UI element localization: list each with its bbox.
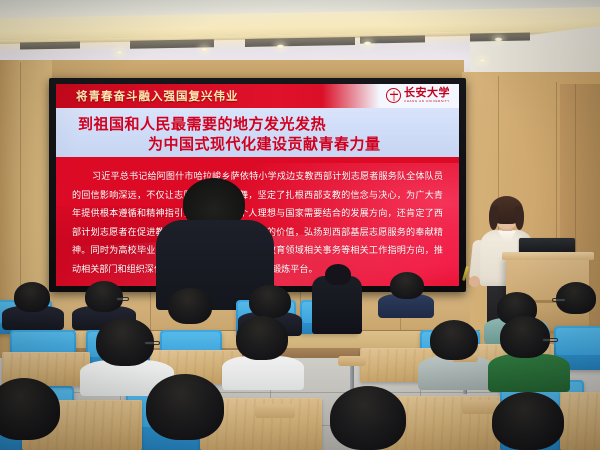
ceiling-downlight [276,44,285,49]
audience-shoulders [222,356,304,390]
ceiling-downlight [115,50,124,55]
speaker-hair-left [489,206,498,230]
ceiling-downlight [363,41,372,46]
speaker-glasses-icon [496,211,517,216]
slide-headline-band: 到祖国和人民最需要的地方发光发热 为中国式现代化建设贡献青春力量 [56,108,459,157]
audience-head [492,392,564,450]
university-name-cn: 长安大学 [404,87,450,98]
audience-head [146,374,224,440]
audience-glasses-icon [552,298,566,302]
seat-armrest [255,404,295,418]
audience-head [236,316,288,360]
ceiling-downlight [478,58,487,63]
audience-head [14,282,50,312]
audience-head [500,316,550,358]
ceiling-vent-1 [20,41,80,49]
seat-armrest [338,356,366,366]
audience-glasses-icon [116,297,129,301]
speaker-hand [469,276,480,287]
audience-head [168,288,212,324]
audience-head [330,386,406,450]
ceiling-downlight [494,37,503,42]
audience-head [325,264,351,285]
slide-headline-line-2: 为中国式现代化建设贡献青春力量 [148,133,381,154]
desk[interactable] [560,392,600,450]
ceiling-downlight [200,47,209,52]
podium-top [502,252,594,260]
audience-head [249,285,291,318]
audience-head [430,320,478,360]
audience-glasses-icon [542,338,558,342]
lecture-hall-photo: 将青春奋斗融入强国复兴伟业 长安大学 CHANG AN UNIVERSITY 到… [0,0,600,450]
slide-banner-title: 将青春奋斗融入强国复兴伟业 [76,88,239,104]
university-name-en: CHANG AN UNIVERSITY [404,99,450,103]
slide-headline-line-1: 到祖国和人民最需要的地方发光发热 [78,113,326,134]
audience-shoulders [488,354,570,392]
university-seal-icon [386,88,401,103]
wall-panel-seam [20,62,21,322]
audience-glasses-icon [144,341,160,345]
laptop-screen [519,238,575,253]
wall-panel-seam [150,290,151,335]
audience-head [390,272,424,299]
wall-back-strip [52,60,464,78]
seat-cushion [556,328,600,355]
speaker-hair-right [515,206,524,230]
university-logo: 长安大学 CHANG AN UNIVERSITY [386,87,450,103]
